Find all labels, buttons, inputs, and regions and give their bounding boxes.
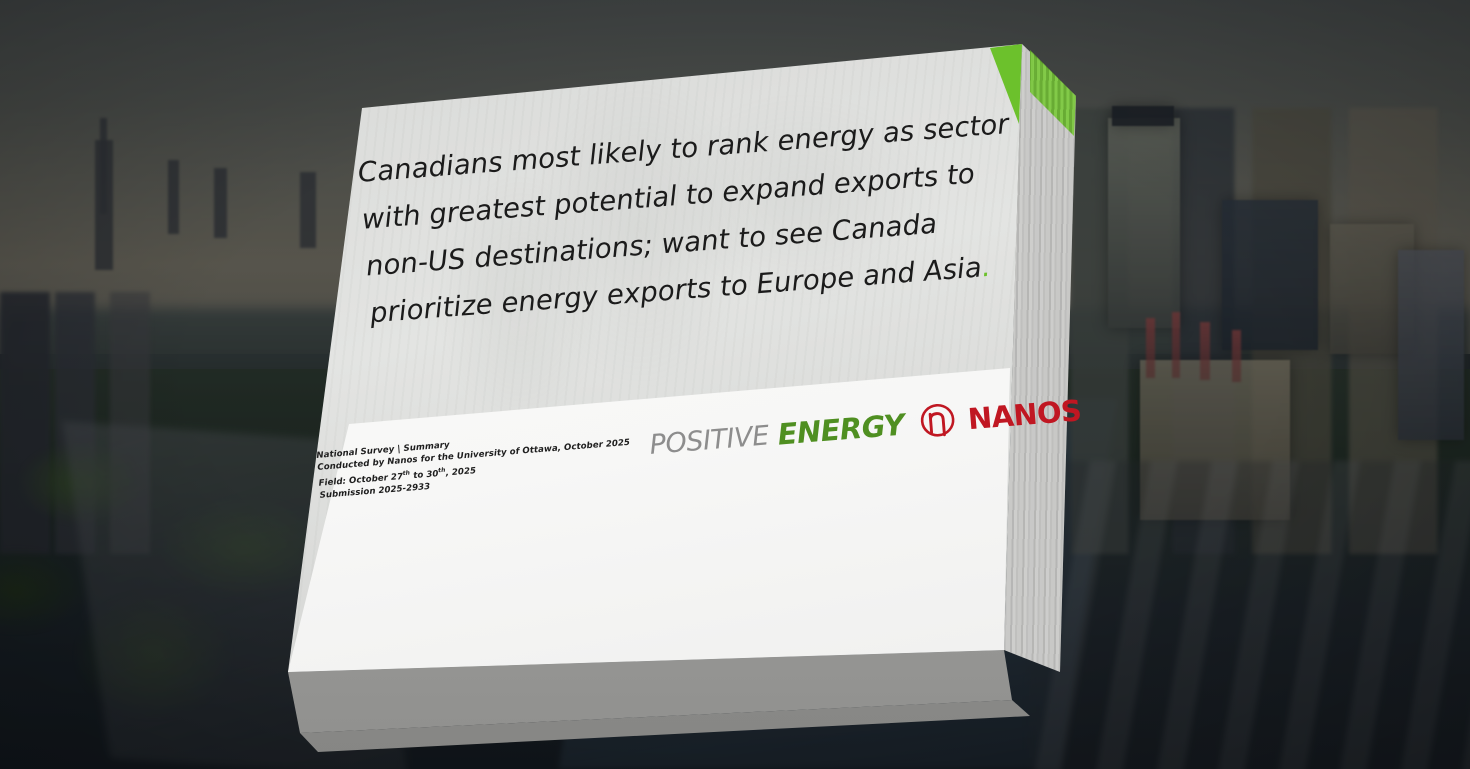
field-suffix: , 2025 [445, 466, 476, 478]
title-accent-period: . [980, 251, 992, 284]
circled-n-mark-icon [915, 399, 960, 444]
field-mid: to 30 [410, 469, 439, 481]
logo-word-nanos: NANOS [967, 393, 1083, 436]
logo-word-energy: ENERGY [776, 408, 905, 452]
logo-word-positive: POSITIVE [648, 420, 770, 460]
slide-mockup-canvas: Canadians most likely to rank energy as … [0, 0, 1470, 769]
